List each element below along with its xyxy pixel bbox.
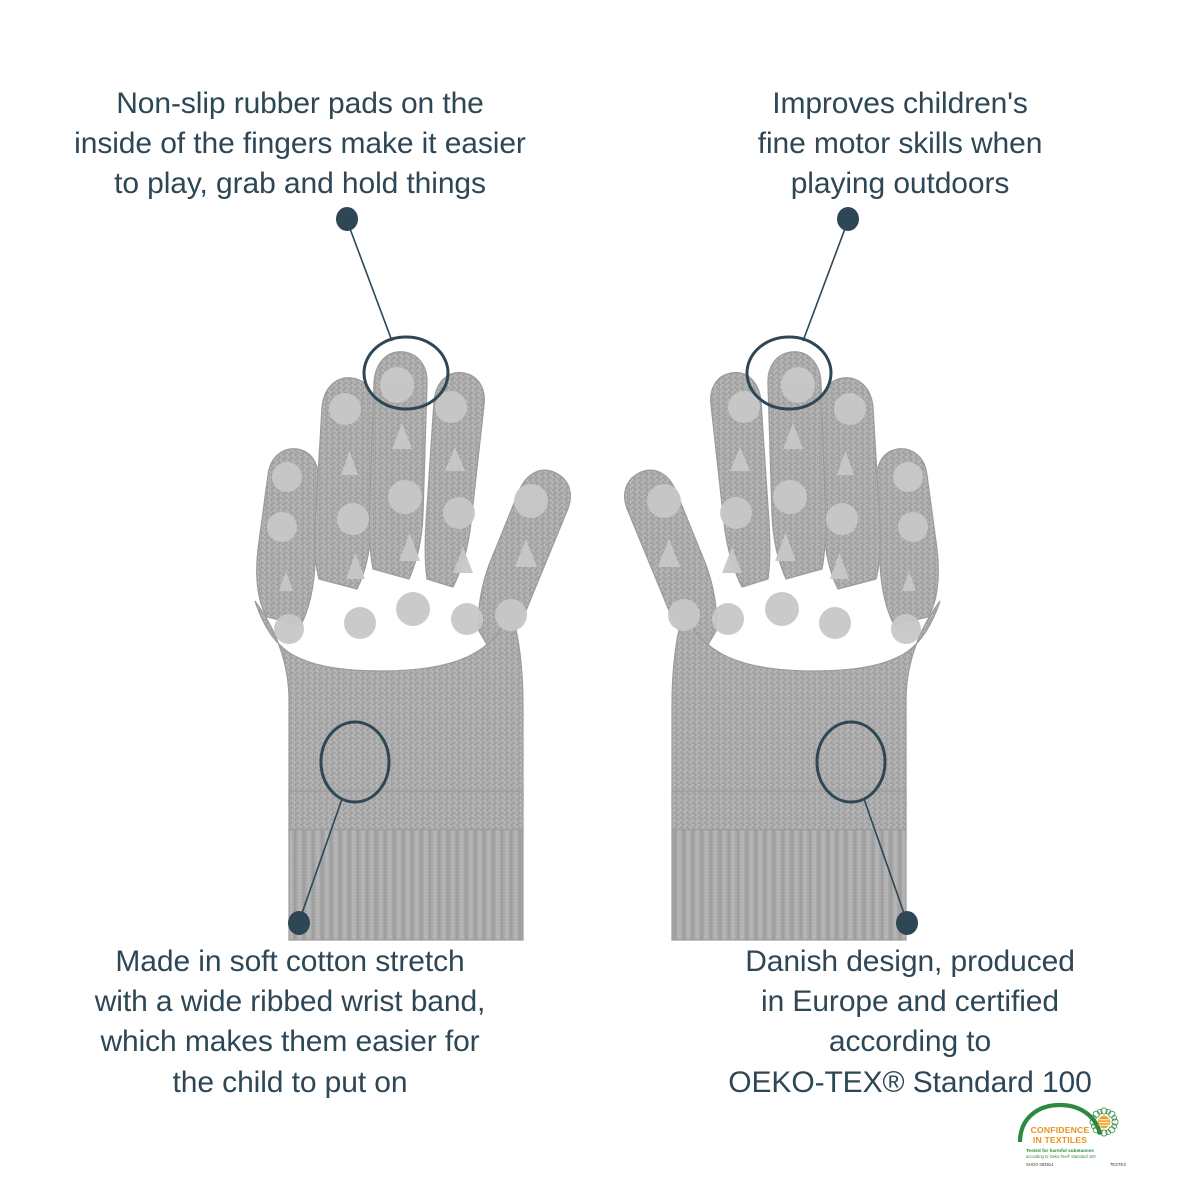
logo-headline-line2: IN TEXTILES xyxy=(1033,1135,1087,1145)
callout-leader-fingertip-left xyxy=(349,226,392,341)
callout-dot-cuff-right[interactable] xyxy=(896,911,918,935)
logo-subline-standard: according to Oeko-Tex® Standard 100 xyxy=(1026,1154,1096,1159)
infographic-canvas: Non-slip rubber pads on the inside of th… xyxy=(0,0,1200,1200)
logo-headline-line1: CONFIDENCE xyxy=(1031,1125,1090,1135)
oeko-tex-confidence-in-textiles-label: CONFIDENCE IN TEXTILES Tested for harmfu… xyxy=(1014,1100,1142,1168)
logo-institute: TESTEX xyxy=(1110,1162,1126,1167)
callout-dot-cuff-left[interactable] xyxy=(288,911,310,935)
caption-soft-cotton-stretch: Made in soft cotton stretch with a wide … xyxy=(0,942,580,1103)
left-glove xyxy=(255,352,570,940)
callout-dot-fingertip-right[interactable] xyxy=(837,207,859,231)
callout-leader-fingertip-right xyxy=(803,226,846,341)
caption-fine-motor-skills: Improves children's fine motor skills wh… xyxy=(640,84,1160,205)
caption-non-slip-rubber-pads: Non-slip rubber pads on the inside of th… xyxy=(0,84,600,205)
caption-danish-design-oeko-tex: Danish design, produced in Europe and ce… xyxy=(640,942,1180,1103)
logo-test-number: SHGO 083914 xyxy=(1026,1162,1054,1167)
logo-subline-tested: Tested for harmful substances xyxy=(1026,1148,1094,1153)
right-glove xyxy=(625,352,940,940)
callout-dot-fingertip-left[interactable] xyxy=(336,207,358,231)
